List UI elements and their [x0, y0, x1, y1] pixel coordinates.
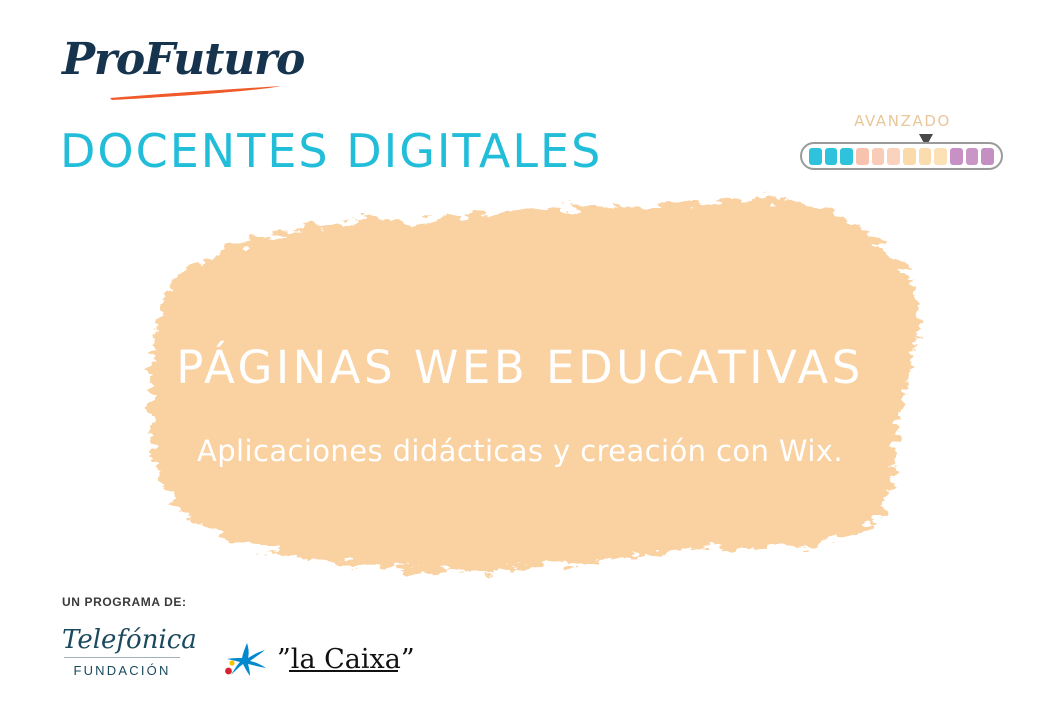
profuturo-logo: ProFuturo — [62, 38, 292, 108]
level-segment-3 — [840, 148, 853, 165]
slide-root: ProFuturo DOCENTES DIGITALES AVANZADO PÁ… — [0, 0, 1040, 720]
la-caixa-logo: ”la Caixa” — [224, 641, 415, 677]
main-headline: PÁGINAS WEB EDUCATIVAS — [0, 345, 1040, 390]
level-segment-8 — [919, 148, 932, 165]
program-title: DOCENTES DIGITALES — [60, 128, 602, 174]
level-segment-7 — [903, 148, 916, 165]
fundacion-telefonica-logo: Telefónica FUNDACIÓN — [62, 627, 182, 678]
la-caixa-underline — [289, 670, 398, 672]
footer-caption: UN PROGRAMA DE: — [62, 595, 415, 609]
level-label: AVANZADO — [795, 112, 1010, 130]
level-progress-track — [800, 142, 1003, 170]
level-segment-10 — [950, 148, 963, 165]
telefonica-divider — [64, 657, 180, 658]
level-segment-2 — [825, 148, 838, 165]
level-meter: AVANZADO — [795, 112, 1010, 174]
footer: UN PROGRAMA DE: Telefónica FUNDACIÓN ”la… — [62, 595, 415, 678]
level-segment-5 — [872, 148, 885, 165]
la-caixa-star-icon — [224, 641, 268, 677]
level-segment-11 — [966, 148, 979, 165]
profuturo-underline-icon — [108, 85, 283, 101]
brush-stroke-background — [0, 185, 1040, 605]
profuturo-logo-text: ProFuturo — [62, 38, 292, 82]
telefonica-fundacion-label: FUNDACIÓN — [62, 663, 182, 678]
level-segment-6 — [887, 148, 900, 165]
main-subtitle: Aplicaciones didácticas y creación con W… — [0, 437, 1040, 466]
telefonica-wordmark: Telefónica — [62, 627, 182, 653]
level-segment-12 — [981, 148, 994, 165]
level-segment-4 — [856, 148, 869, 165]
level-segment-1 — [809, 148, 822, 165]
la-caixa-wordmark: ”la Caixa” — [277, 646, 415, 673]
footer-logos: Telefónica FUNDACIÓN ”la Caixa” — [62, 627, 415, 678]
level-segment-9 — [934, 148, 947, 165]
